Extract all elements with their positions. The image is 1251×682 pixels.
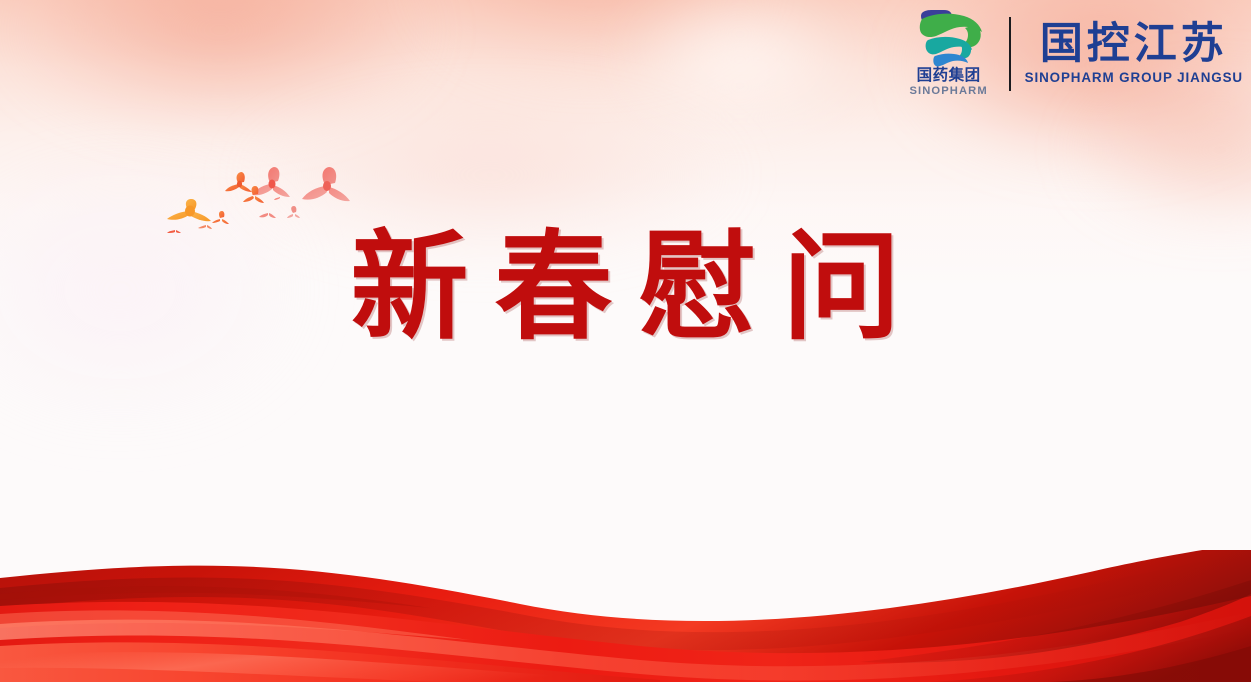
- poster-title-wrap: 新春慰问: [0, 228, 1251, 346]
- brand-unit-cn: 国控江苏: [1040, 22, 1228, 68]
- sinopharm-group-logo: 国药集团 SINOPHARM: [899, 9, 999, 99]
- poster-canvas: 国药集团 SINOPHARM 国控江苏 SINOPHARM GROUP JIAN…: [0, 0, 1251, 682]
- ribbon-svg: [0, 550, 1251, 682]
- brand-unit-en: SINOPHARM GROUP JIANGSU: [1025, 70, 1243, 86]
- brand-group-en: SINOPHARM: [909, 85, 987, 98]
- sinopharm-jiangsu-wordmark: 国控江苏 SINOPHARM GROUP JIANGSU: [1025, 22, 1245, 87]
- sinopharm-ribbon-mark: [910, 9, 988, 67]
- red-silk-wave-ribbon: [0, 550, 1251, 682]
- brand-divider: [1009, 17, 1011, 91]
- brand-lockup: 国药集团 SINOPHARM 国控江苏 SINOPHARM GROUP JIAN…: [899, 4, 1245, 104]
- poster-title: 新春慰问: [324, 228, 926, 346]
- brand-group-cn: 国药集团: [917, 68, 981, 84]
